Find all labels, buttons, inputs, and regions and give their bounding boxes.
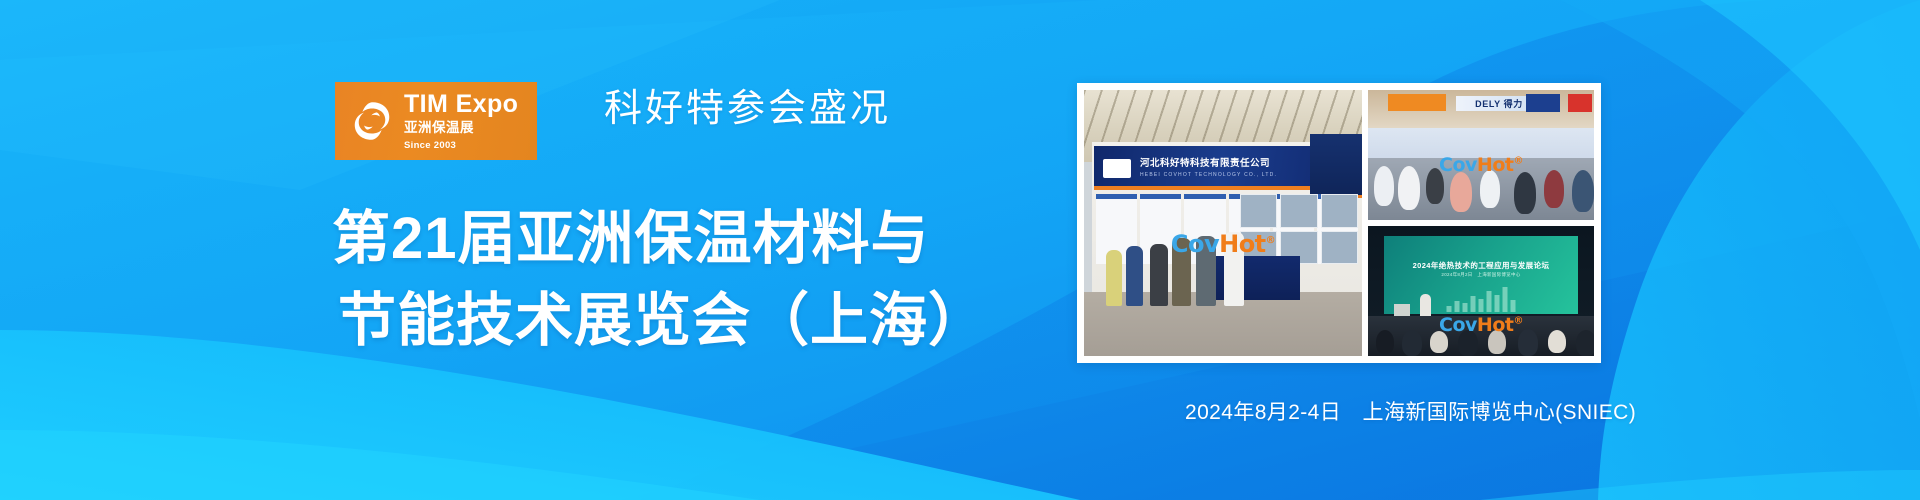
exhibition-promo-banner: TIM Expo 亚洲保温展 Since 2003 科好特参会盛况 第21届亚洲… [0,0,1920,500]
logo-title-cn: 亚洲保温展 [404,121,518,135]
forum-screen-title: 2024年绝热技术的工程应用与发展论坛 [1384,260,1578,271]
covhot-watermark: CovHot® [1439,154,1523,176]
booth-sign-cn: 河北科好特科技有限责任公司 [1140,155,1270,169]
headline-line-2: 节能技术展览会（上海） [332,280,987,362]
date-venue-text: 2024年8月2-4日 上海新国际博览中心(SNIEC) [1185,396,1636,426]
exhibition-booth-photo: 河北科好特科技有限责任公司 HEBEI COVHOT TECHNOLOGY CO… [1084,90,1362,356]
exhibition-hall-crowd-photo: DELY 得力 CovHot® [1368,90,1594,220]
forum-screen-subtitle: 2024年8月2日 上海新国际博览中心 [1384,272,1578,278]
photo-collage: 河北科好特科技有限责任公司 HEBEI COVHOT TECHNOLOGY CO… [1077,83,1601,363]
logo-title-en: TIM Expo [404,92,518,117]
covhot-watermark: CovHot® [1171,230,1275,258]
logo-since-text: Since 2003 [404,141,518,151]
covhot-watermark: CovHot® [1439,314,1523,336]
banner-headline: 第21届亚洲保温材料与 节能技术展览会（上海） [332,198,987,362]
booth-banner: 河北科好特科技有限责任公司 HEBEI COVHOT TECHNOLOGY CO… [1094,146,1324,190]
headline-line-1: 第21届亚洲保温材料与 [332,198,987,280]
stage-screen: 2024年绝热技术的工程应用与发展论坛 2024年8月2日 上海新国际博览中心 [1384,236,1578,314]
banner-subtitle: 科好特参会盛况 [604,77,891,132]
tim-expo-logo[interactable]: TIM Expo 亚洲保温展 Since 2003 [335,82,537,160]
tim-expo-swirl-icon [348,97,396,145]
forum-auditorium-photo: 2024年绝热技术的工程应用与发展论坛 2024年8月2日 上海新国际博览中心 [1368,226,1594,356]
booth-logo-icon [1103,159,1131,178]
booth-sign-en: HEBEI COVHOT TECHNOLOGY CO., LTD. [1140,172,1277,178]
